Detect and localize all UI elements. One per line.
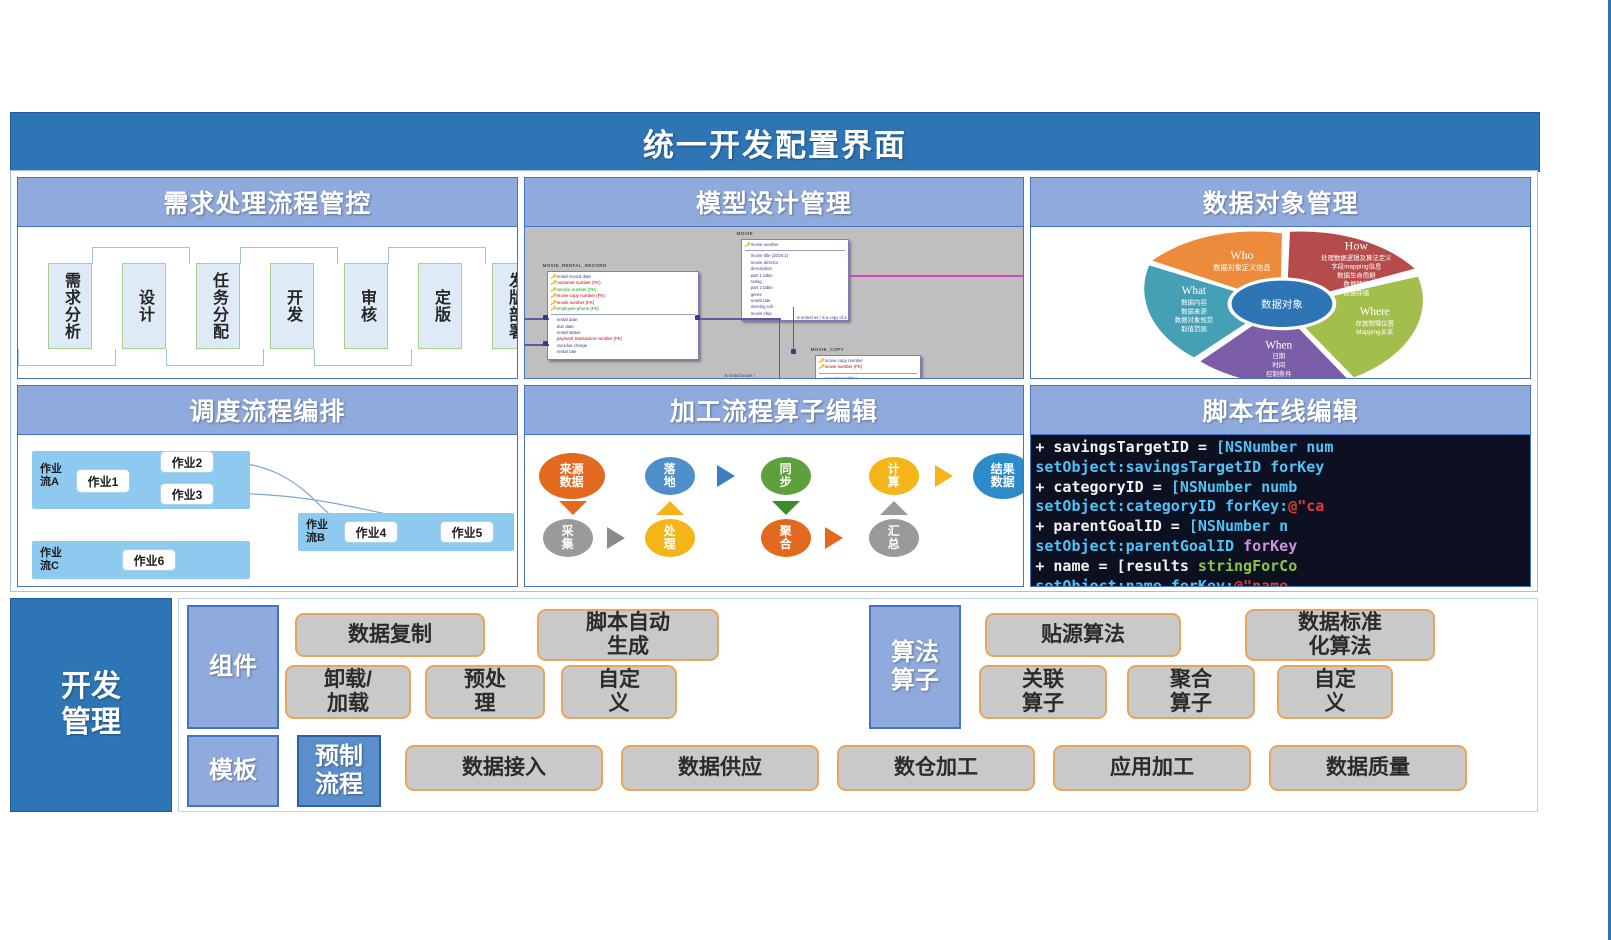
panel-requirement[interactable]: 需求处理流程管控 需求分析 设计 任务分配 开发 <box>17 177 518 379</box>
er-endpoint <box>695 315 700 320</box>
category-components-label: 组件 <box>209 653 257 681</box>
category-algorithms[interactable]: 算法算子 <box>869 605 961 729</box>
flow-link-top-3 <box>388 247 486 264</box>
master-title-bar: 统一开发配置界面 <box>10 112 1540 172</box>
pie-sub-what-1: 数据来源 <box>1181 306 1207 315</box>
development-management: 开发管理 组件 数据复制 脚本自动生成 卸载/加载 预处理 自定义 算法算子 <box>10 598 1538 812</box>
category-preset-flow-label: 预制流程 <box>315 743 363 800</box>
pie-chart-svg: 数据对象 Who 数据对象定义信息 How 处理数据逻辑及算法定义 字段mapp… <box>1031 227 1530 378</box>
flow-step-1[interactable]: 设计 <box>122 263 166 349</box>
job-node-4[interactable]: 作业4 <box>344 521 398 543</box>
dev-section-template: 模板 预制流程 数据接入 数据供应 数仓加工 应用加工 数据质量 <box>187 735 1531 807</box>
job-flow-diagram: 作业流A 作业1 作业2 作业3 作业流B 作业4 作业5 作业流C <box>18 435 517 586</box>
pie-label-what: What <box>1182 285 1207 297</box>
pie-sub-where-1: Mapping关系 <box>1356 327 1393 336</box>
flow-step-3-label: 开发 <box>284 289 300 323</box>
chip-data-supply[interactable]: 数据供应 <box>621 745 819 791</box>
panel-model-design-body: MOVIE_RENTAL_RECORD 🔑rental record date … <box>525 227 1024 378</box>
flow-step-6-label: 发版部署 <box>506 272 517 340</box>
er-row: 🔑movie number <box>745 242 845 248</box>
arrow-up-icon <box>880 501 908 515</box>
flow-step-0-label: 需求分析 <box>62 272 78 340</box>
panel-grid: 需求处理流程管控 需求分析 设计 任务分配 开发 <box>10 170 1538 592</box>
pie-sub-what-0: 数据内容 <box>1181 297 1207 306</box>
arrow-down-icon <box>772 501 800 515</box>
er-endpoint <box>543 341 548 346</box>
category-template-label: 模板 <box>209 757 257 785</box>
operator-node-calc[interactable]: 计算 <box>869 457 919 495</box>
er-table-1-title: MOVIE <box>737 231 753 236</box>
panel-script-title: 脚本在线编辑 <box>1203 392 1359 428</box>
flow-link-top-2 <box>240 247 338 264</box>
pie-sub-how-2: 数据生命周期 <box>1338 270 1376 279</box>
job-group-b-label: 作业流B <box>306 519 328 545</box>
pie-label-how: How <box>1345 238 1369 252</box>
code-line: + name = [results stringForCo <box>1035 557 1530 577</box>
flow-step-2-label: 任务分配 <box>210 272 226 340</box>
job-group-a[interactable]: 作业流A <box>32 451 250 509</box>
code-editor[interactable]: + savingsTargetID = [NSNumber numsetObje… <box>1031 435 1530 586</box>
dev-management-content: 组件 数据复制 脚本自动生成 卸载/加载 预处理 自定义 算法算子 贴源算法 数… <box>178 598 1538 812</box>
pie-sub-how-3: 数据转换 <box>1344 279 1370 288</box>
er-relation-label: is rented under / <box>725 373 755 378</box>
job-group-c-label: 作业流C <box>40 547 62 573</box>
panel-model-design-header: 模型设计管理 <box>525 178 1024 227</box>
pie-sub-how-4: 数据存储 <box>1344 288 1370 297</box>
er-table-0-keys: 🔑rental record date 🔑customer number (FK… <box>551 274 695 315</box>
arrow-down-icon <box>559 501 587 515</box>
er-endpoint <box>791 349 796 354</box>
operator-node-collect[interactable]: 采集 <box>543 519 593 557</box>
flow-step-4-label: 审核 <box>358 289 374 323</box>
code-line: + savingsTargetID = [NSNumber num <box>1035 438 1530 458</box>
chip-data-ingest[interactable]: 数据接入 <box>405 745 603 791</box>
panel-requirement-title: 需求处理流程管控 <box>163 184 371 220</box>
pie-sub-how-1: 字段mapping信息 <box>1332 261 1383 270</box>
category-components[interactable]: 组件 <box>187 605 279 729</box>
requirement-flow-diagram: 需求分析 设计 任务分配 开发 审核 定版 发版部署 <box>32 235 503 370</box>
panel-operator-body: 来源数据 落地 同步 计算 结果数据 采集 <box>525 435 1024 586</box>
code-line: setObject:parentGoalID forKey <box>1035 537 1530 557</box>
preset-flow-chip-group: 数据接入 数据供应 数仓加工 应用加工 数据质量 <box>381 735 1531 807</box>
er-diagram: MOVIE_RENTAL_RECORD 🔑rental record date … <box>525 227 1024 378</box>
flow-link-bottom-3 <box>314 349 412 366</box>
chip-data-copy[interactable]: 数据复制 <box>295 613 485 657</box>
er-connector <box>793 307 795 353</box>
code-line: setObject:name forKey:@"name <box>1035 577 1530 586</box>
chip-script-auto-gen[interactable]: 脚本自动生成 <box>537 609 719 661</box>
er-connector <box>779 318 781 378</box>
er-table-2-fields: general condition movie format <box>819 376 917 378</box>
panel-scheduling-header: 调度流程编排 <box>18 386 517 435</box>
dev-section-components: 组件 数据复制 脚本自动生成 卸载/加载 预处理 自定义 <box>187 605 847 729</box>
job-node-5[interactable]: 作业5 <box>440 521 494 543</box>
er-table-0-fields: rental date due date rental status payme… <box>551 317 695 355</box>
code-line: + categoryID = [NSNumber numb <box>1035 478 1530 498</box>
operator-node-merge[interactable]: 聚合 <box>761 519 811 557</box>
chip-custom-operator[interactable]: 自定义 <box>1277 665 1393 719</box>
arrow-right-icon <box>825 527 843 549</box>
panel-script[interactable]: 脚本在线编辑 + savingsTargetID = [NSNumber num… <box>1030 385 1531 587</box>
operator-node-total[interactable]: 汇总 <box>869 519 919 557</box>
panel-row-2: 调度流程编排 作业流A 作业1 <box>17 385 1531 587</box>
pie-center-label: 数据对象 <box>1261 297 1303 310</box>
data-object-chart[interactable]: 数据对象 Who 数据对象定义信息 How 处理数据逻辑及算法定义 字段mapp… <box>1031 227 1530 378</box>
panel-model-design[interactable]: 模型设计管理 MOVIE_RENTAL_RECORD 🔑rental recor… <box>524 177 1025 379</box>
pie-sub-who-0: 数据对象定义信息 <box>1214 263 1272 272</box>
operator-node-sync[interactable]: 同步 <box>761 457 811 495</box>
flow-link-top-1 <box>92 247 190 264</box>
er-table-2[interactable]: 🔑movie copy number 🔑movie number (FK) ge… <box>815 355 921 378</box>
er-table-2-keys: 🔑movie copy number 🔑movie number (FK) <box>819 358 917 374</box>
er-connector-highlight <box>849 275 1024 277</box>
dev-management-label: 开发管理 <box>10 598 172 812</box>
arrow-right-icon <box>935 465 953 487</box>
dev-section-algorithms: 算法算子 贴源算法 数据标准化算法 关联算子 聚合算子 自定义 <box>869 605 1529 729</box>
panel-operator[interactable]: 加工流程算子编辑 来源数据 落地 同步 计算 结果数据 <box>524 385 1025 587</box>
er-connector <box>699 318 781 320</box>
pie-sub-how-0: 处理数据逻辑及算法定义 <box>1322 252 1393 261</box>
chip-join-operator[interactable]: 关联算子 <box>979 665 1107 719</box>
pie-label-when: When <box>1266 339 1293 351</box>
category-algorithms-label: 算法算子 <box>891 639 939 696</box>
category-preset-flow[interactable]: 预制流程 <box>297 735 381 807</box>
category-template[interactable]: 模板 <box>187 735 279 807</box>
flow-step-6[interactable]: 发版部署 <box>492 263 517 349</box>
flow-link-bottom-2 <box>166 349 264 366</box>
er-table-1-fields: movie title (2019.1) movie director desc… <box>745 253 845 317</box>
chip-warehouse[interactable]: 数仓加工 <box>837 745 1035 791</box>
chip-aggregate-operator[interactable]: 聚合算子 <box>1127 665 1255 719</box>
slide-stage: 统一开发配置界面 需求处理流程管控 <box>10 112 1538 812</box>
operator-node-source[interactable]: 来源数据 <box>539 453 605 499</box>
er-row: 🔑movie number (FK) <box>819 364 917 370</box>
code-line: + parentGoalID = [NSNumber n <box>1035 517 1530 537</box>
chip-app-process[interactable]: 应用加工 <box>1053 745 1251 791</box>
flow-step-5[interactable]: 定版 <box>418 263 462 349</box>
operator-flow-diagram: 来源数据 落地 同步 计算 结果数据 采集 <box>525 435 1024 586</box>
er-table-1[interactable]: 🔑movie number movie title (2019.1) movie… <box>741 239 849 321</box>
dev-management-title: 开发管理 <box>61 669 121 741</box>
operator-node-result[interactable]: 结果数据 <box>973 453 1024 499</box>
job-node-3[interactable]: 作业3 <box>160 483 214 505</box>
er-endpoint <box>543 315 548 320</box>
panel-operator-title: 加工流程算子编辑 <box>670 392 878 428</box>
panel-data-object-header: 数据对象管理 <box>1031 178 1530 227</box>
job-node-6[interactable]: 作业6 <box>122 549 176 571</box>
job-node-1[interactable]: 作业1 <box>76 469 130 493</box>
panel-data-object-body: 数据对象 Who 数据对象定义信息 How 处理数据逻辑及算法定义 字段mapp… <box>1031 227 1530 378</box>
flow-link-bottom-1 <box>18 349 116 366</box>
flow-step-4[interactable]: 审核 <box>344 263 388 349</box>
pie-label-who: Who <box>1231 248 1254 262</box>
chip-standardize-algorithm[interactable]: 数据标准化算法 <box>1245 609 1435 661</box>
job-group-a-label: 作业流A <box>40 463 62 489</box>
chip-source-algorithm[interactable]: 贴源算法 <box>985 613 1181 657</box>
er-row: general condition <box>819 376 917 378</box>
flow-step-0[interactable]: 需求分析 <box>48 263 92 349</box>
pie-sub-what-2: 数据对象规范 <box>1175 315 1214 324</box>
chip-unload-load[interactable]: 卸载/加载 <box>285 665 411 719</box>
pie-sub-where-0: 存放物理位置 <box>1356 318 1395 327</box>
pie-sub-what-3: 取值范围 <box>1181 324 1207 333</box>
algorithms-chip-group: 贴源算法 数据标准化算法 关联算子 聚合算子 自定义 <box>961 605 1529 729</box>
flow-step-2[interactable]: 任务分配 <box>196 263 240 349</box>
page-title: 统一开发配置界面 <box>643 120 907 165</box>
er-relation-label: is rented as / is a copy of a <box>797 315 847 321</box>
operator-node-process[interactable]: 处理 <box>645 519 695 557</box>
er-table-2-title: MOVIE_COPY <box>811 347 844 352</box>
arrow-up-icon <box>656 501 684 515</box>
code-line: setObject:savingsTargetID forKey <box>1035 458 1530 478</box>
panel-scheduling-title: 调度流程编排 <box>189 392 345 428</box>
panel-data-object-title: 数据对象管理 <box>1203 184 1359 220</box>
panel-script-header: 脚本在线编辑 <box>1031 386 1530 435</box>
panel-model-design-title: 模型设计管理 <box>696 184 852 220</box>
er-row: 🔑employee phone (FK) <box>551 306 695 312</box>
chip-data-quality[interactable]: 数据质量 <box>1269 745 1467 791</box>
components-chip-group: 数据复制 脚本自动生成 卸载/加载 预处理 自定义 <box>279 605 847 729</box>
operator-node-land[interactable]: 落地 <box>645 457 695 495</box>
arrow-right-icon <box>717 465 735 487</box>
panel-operator-header: 加工流程算子编辑 <box>525 386 1024 435</box>
er-table-0-title: MOVIE_RENTAL_RECORD <box>543 263 607 268</box>
chip-custom-component[interactable]: 自定义 <box>561 665 677 719</box>
flow-step-3[interactable]: 开发 <box>270 263 314 349</box>
code-line: setObject:categoryID forKey:@"ca <box>1035 497 1530 517</box>
pie-sub-when-2: 控制条件 <box>1266 368 1292 377</box>
pie-sub-when-1: 时间 <box>1273 360 1286 369</box>
panel-requirement-header: 需求处理流程管控 <box>18 178 517 227</box>
pie-label-where: Where <box>1360 306 1390 318</box>
arrow-right-icon <box>607 527 625 549</box>
panel-scheduling[interactable]: 调度流程编排 作业流A 作业1 <box>17 385 518 587</box>
er-table-0[interactable]: 🔑rental record date 🔑customer number (FK… <box>547 271 699 360</box>
panel-scheduling-body: 作业流A 作业1 作业2 作业3 作业流B 作业4 作业5 作业流C <box>18 435 517 586</box>
panel-data-object[interactable]: 数据对象管理 <box>1030 177 1531 379</box>
er-table-1-keys: 🔑movie number <box>745 242 845 251</box>
panel-script-body: + savingsTargetID = [NSNumber numsetObje… <box>1031 435 1530 586</box>
pie-sub-when-0: 日期 <box>1273 352 1286 360</box>
panel-row-1: 需求处理流程管控 需求分析 设计 任务分配 开发 <box>17 177 1531 379</box>
flow-step-5-label: 定版 <box>432 289 448 323</box>
panel-requirement-body: 需求分析 设计 任务分配 开发 审核 定版 发版部署 <box>18 227 517 378</box>
er-row: rental rate <box>551 349 695 355</box>
flow-step-1-label: 设计 <box>136 289 152 323</box>
job-node-2[interactable]: 作业2 <box>160 451 214 473</box>
chip-preprocess[interactable]: 预处理 <box>425 665 545 719</box>
